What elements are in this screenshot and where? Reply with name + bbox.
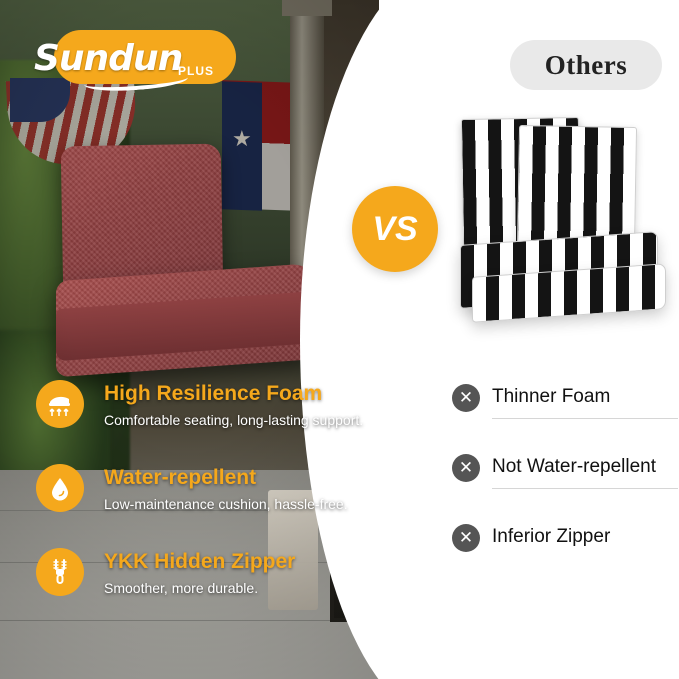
con-item: ✕ Inferior Zipper bbox=[452, 518, 672, 588]
comparison-infographic: ★ Sundun PLUS bbox=[0, 0, 679, 679]
feature-title: Water-repellent bbox=[104, 466, 256, 490]
divider bbox=[492, 488, 678, 489]
con-item: ✕ Not Water-repellent bbox=[452, 448, 672, 518]
con-label: Inferior Zipper bbox=[492, 526, 610, 548]
cross-circle-icon: ✕ bbox=[452, 454, 480, 482]
cross-circle-icon: ✕ bbox=[452, 384, 480, 412]
vs-label: VS bbox=[372, 210, 417, 249]
feature-item: YKK Hidden Zipper Smoother, more durable… bbox=[36, 544, 428, 628]
divider bbox=[492, 418, 678, 419]
water-drop-icon bbox=[36, 464, 84, 512]
competitor-cushion-image bbox=[458, 118, 668, 318]
feature-title: YKK Hidden Zipper bbox=[104, 550, 295, 574]
feature-subtitle: Low-maintenance cushion, hassle-free. bbox=[104, 496, 348, 512]
others-label: Others bbox=[545, 50, 627, 81]
con-label: Thinner Foam bbox=[492, 386, 610, 408]
cross-circle-icon: ✕ bbox=[452, 524, 480, 552]
logo-plus-label: PLUS bbox=[178, 64, 214, 78]
feature-subtitle: Comfortable seating, long-lasting suppor… bbox=[104, 412, 363, 428]
foam-cushion-icon bbox=[36, 380, 84, 428]
vs-badge: VS bbox=[352, 186, 438, 272]
feature-item: High Resilience Foam Comfortable seating… bbox=[36, 376, 428, 460]
feature-list: High Resilience Foam Comfortable seating… bbox=[36, 376, 428, 628]
brand-logo: Sundun PLUS bbox=[18, 28, 236, 86]
feature-subtitle: Smoother, more durable. bbox=[104, 580, 258, 596]
others-badge: Others bbox=[510, 40, 662, 90]
striped-back-pillow-2 bbox=[517, 125, 637, 251]
con-item: ✕ Thinner Foam bbox=[452, 378, 672, 448]
con-label: Not Water-repellent bbox=[492, 456, 656, 478]
zipper-icon bbox=[36, 548, 84, 596]
competitor-drawback-list: ✕ Thinner Foam ✕ Not Water-repellent ✕ I… bbox=[452, 378, 672, 588]
feature-title: High Resilience Foam bbox=[104, 382, 322, 406]
feature-item: Water-repellent Low-maintenance cushion,… bbox=[36, 460, 428, 544]
